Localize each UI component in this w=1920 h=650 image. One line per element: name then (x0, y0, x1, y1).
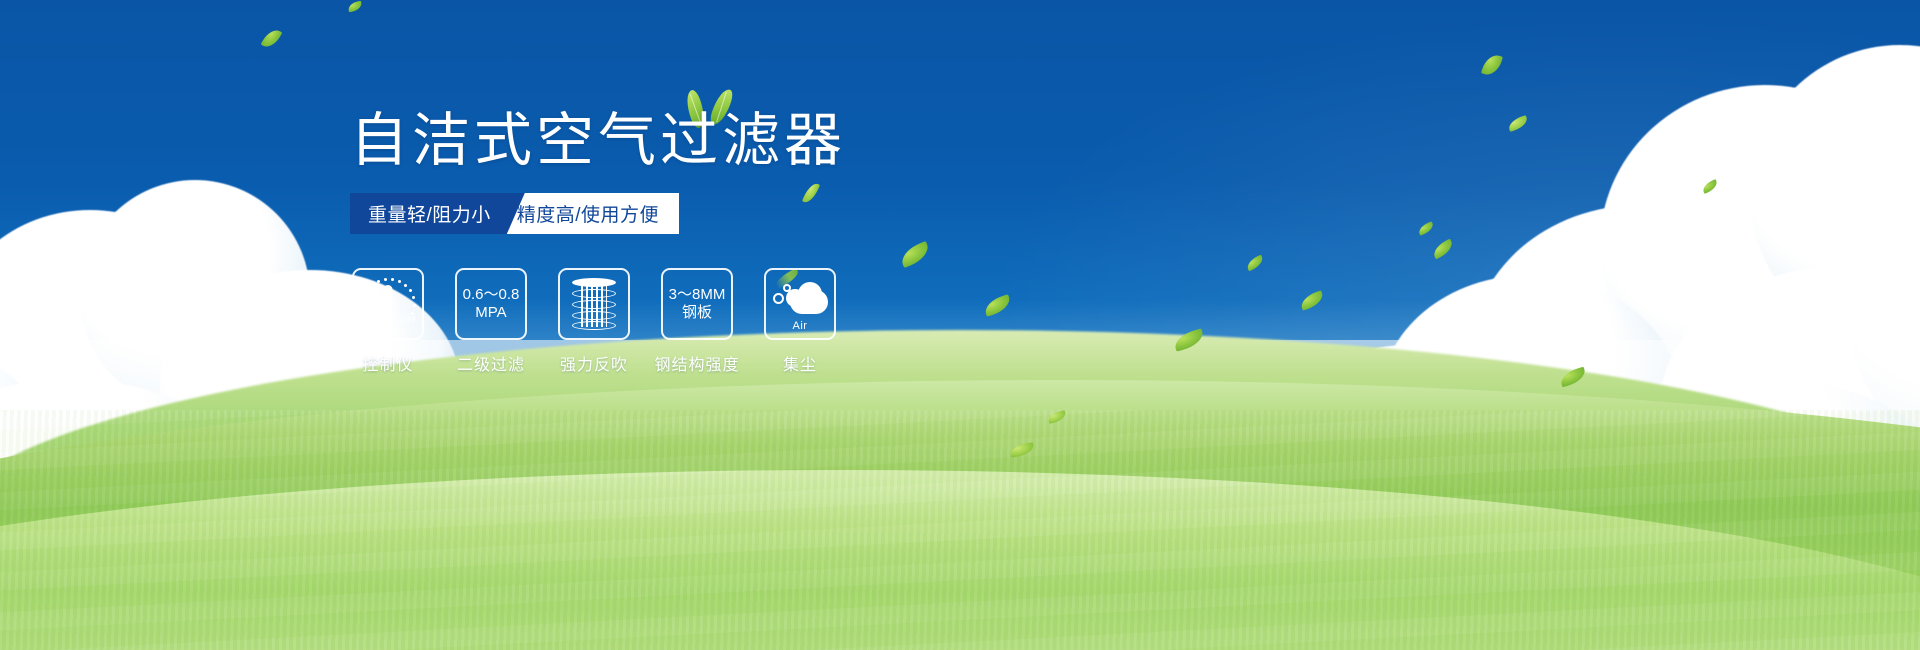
floating-leaf (1430, 239, 1455, 260)
floating-leaf (1047, 410, 1067, 424)
cloud-mid-right (980, 370, 1580, 570)
pressure-unit: MPA (463, 304, 520, 322)
feature-item-steel-structure-strength[interactable]: 3～8MM 钢板 钢结构强度 (661, 268, 733, 375)
feature-item-two-stage-filtration[interactable]: 0.6～0.8 MPA 二级过滤 (455, 268, 527, 375)
hill-mid (0, 380, 1920, 590)
floating-leaf (1701, 179, 1719, 194)
feature-icon-box: NO OFF (352, 268, 424, 340)
filter-cartridge-icon (571, 278, 617, 330)
floating-leaf (1245, 255, 1266, 272)
feature-tabs: 重量轻/阻力小 精度高/使用方便 (350, 193, 679, 234)
floating-leaf (1559, 367, 1588, 388)
hill-back (0, 330, 1920, 530)
floating-leaf (1481, 52, 1503, 78)
floating-leaf (1299, 290, 1326, 310)
cloud-right (1230, 45, 1920, 565)
feature-label: 二级过滤 (457, 351, 525, 375)
horizon-glow (0, 340, 1920, 530)
gauge-label-off: OFF (402, 317, 417, 324)
floating-leaf (982, 294, 1012, 317)
feature-icon-box: 3～8MM 钢板 (661, 268, 733, 340)
horizon-cloud-band (0, 420, 1920, 590)
feature-icon-row: NO OFF 控制仪 0.6～0.8 MPA 二级过滤 (352, 268, 836, 375)
page-title: 自洁式空气过滤器 (350, 112, 846, 170)
feature-label: 集尘 (783, 351, 817, 375)
tab-lightweight-lowresistance[interactable]: 重量轻/阻力小 (350, 193, 525, 234)
feature-item-strong-backblow[interactable]: 强力反吹 (558, 268, 630, 375)
gauge-dial-icon: NO OFF (358, 276, 418, 332)
feature-item-control-instrument[interactable]: NO OFF 控制仪 (352, 268, 424, 375)
hill-front (0, 470, 1920, 650)
floating-leaf (347, 1, 363, 13)
feature-item-dust-collection[interactable]: Air 集尘 (764, 268, 836, 375)
steel-thickness: 3～8MM (669, 286, 726, 304)
steel-material: 钢板 (669, 304, 726, 322)
floating-leaf (898, 241, 932, 268)
feature-icon-box: Air (764, 268, 836, 340)
floating-leaf (1417, 221, 1435, 235)
floating-leaf (1507, 115, 1529, 132)
gauge-label-no: NO (358, 301, 369, 308)
floating-leaf (1172, 328, 1205, 351)
feature-label: 钢结构强度 (655, 351, 740, 375)
feature-icon-box: 0.6～0.8 MPA (455, 268, 527, 340)
grass-field (0, 350, 1920, 650)
pressure-range: 0.6～0.8 (463, 286, 520, 304)
air-caption: Air (772, 320, 828, 332)
feature-label: 强力反吹 (560, 351, 628, 375)
grass-texture (0, 410, 1920, 650)
gauge-needle (384, 285, 393, 325)
feature-icon-box (558, 268, 630, 340)
floating-leaf (1009, 442, 1034, 457)
feature-label: 控制仪 (362, 351, 413, 375)
air-cloud-icon: Air (772, 280, 828, 328)
tab-highprecision-easyuse[interactable]: 精度高/使用方便 (507, 193, 679, 234)
floating-leaf (261, 26, 283, 51)
hero-banner: 自洁式空气过滤器 重量轻/阻力小 精度高/使用方便 (0, 0, 1920, 650)
floating-leaf (802, 181, 820, 205)
sky-haze (0, 300, 1920, 560)
pressure-value-icon: 0.6～0.8 MPA (463, 286, 520, 322)
steel-plate-icon: 3～8MM 钢板 (669, 286, 726, 322)
